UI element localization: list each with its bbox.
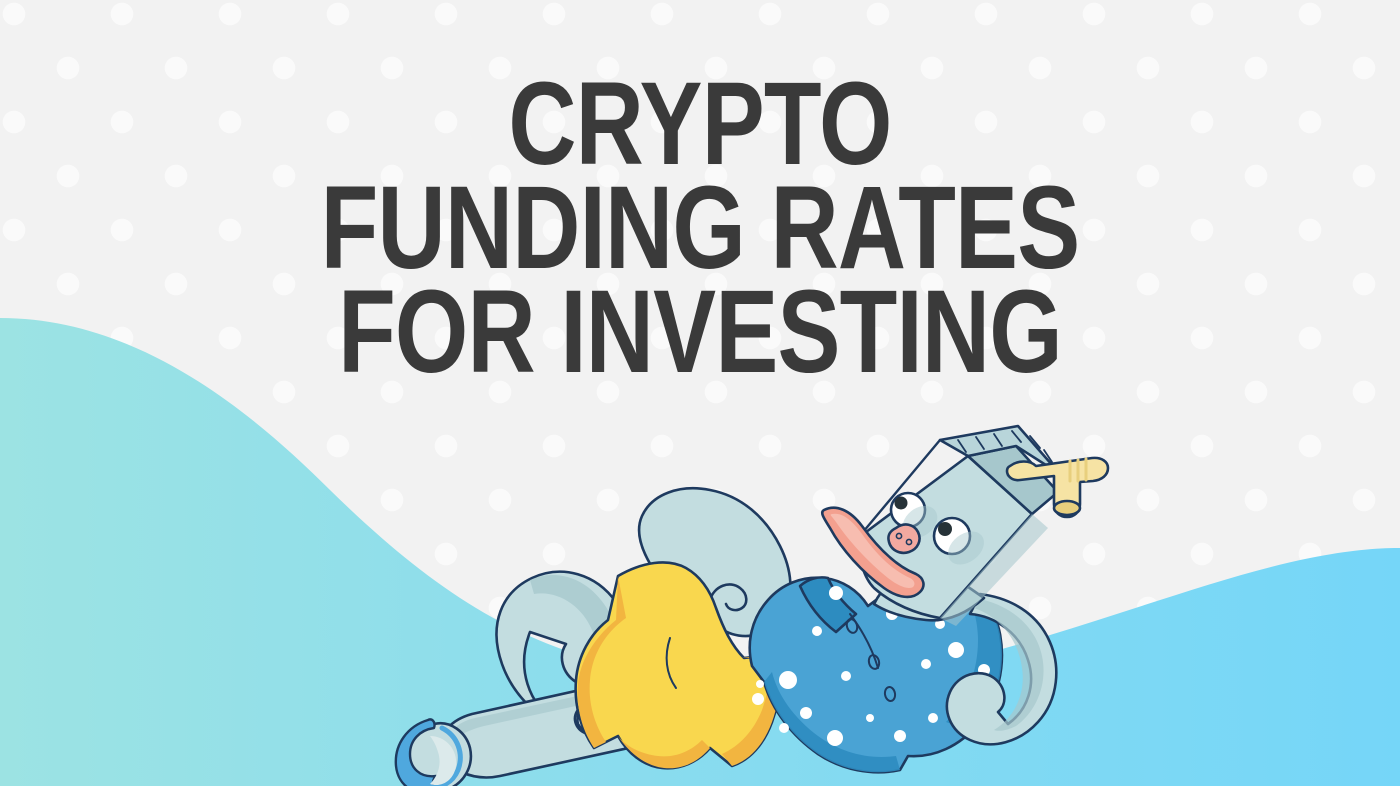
eye-right-pupil xyxy=(938,522,952,536)
poster-canvas: CRYPTO FUNDING RATES FOR INVESTING xyxy=(0,0,1400,786)
sandal-front xyxy=(396,719,471,786)
milk-carton-character xyxy=(380,418,1120,786)
page-title: CRYPTO FUNDING RATES FOR INVESTING xyxy=(0,72,1400,384)
straw-opening xyxy=(1054,501,1080,515)
title-line-2: FUNDING RATES xyxy=(140,176,1260,280)
eye-left-pupil xyxy=(895,497,908,510)
title-line-3: FOR INVESTING xyxy=(140,280,1260,384)
face-nose xyxy=(888,525,919,553)
title-line-1: CRYPTO xyxy=(140,72,1260,176)
nose xyxy=(888,525,919,553)
